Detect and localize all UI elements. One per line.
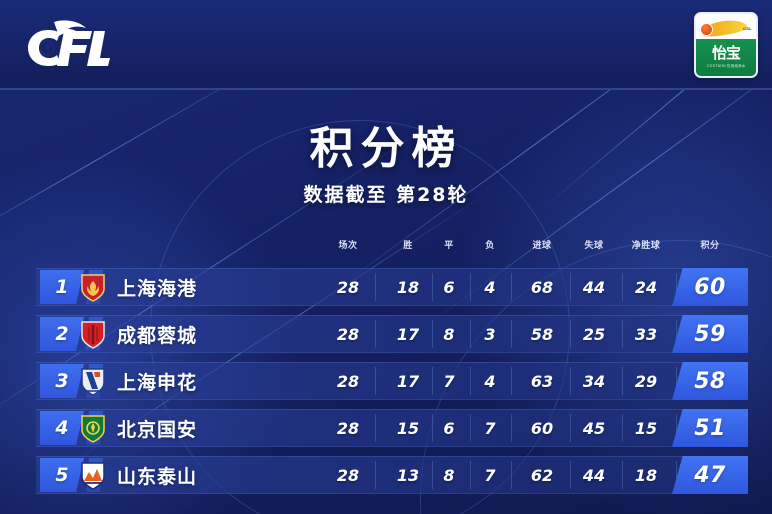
points-value: 58 [694, 369, 726, 394]
stat-win: 15 [397, 411, 419, 445]
cell-separator [511, 273, 512, 301]
stat-gd: 29 [635, 364, 657, 398]
stat-played: 28 [337, 364, 359, 398]
stat-gf: 62 [531, 458, 553, 492]
stat-draw: 8 [443, 458, 454, 492]
team-name[interactable]: 上海申花 [117, 364, 197, 398]
cell-separator [470, 461, 471, 489]
stat-ga: 34 [583, 364, 605, 398]
cell-separator [511, 461, 512, 489]
team-name[interactable]: 上海海港 [117, 270, 197, 304]
sponsor-csl-mark: CSL [743, 26, 752, 31]
page-subtitle: 数据截至 第28轮 [0, 180, 772, 207]
cell-separator [470, 367, 471, 395]
cell-separator [622, 461, 623, 489]
stat-loss: 7 [484, 458, 495, 492]
table-row[interactable]: 5 山东泰山28138762441847 [0, 452, 772, 499]
cell-separator [622, 367, 623, 395]
cell-separator [470, 414, 471, 442]
sponsor-name-cn: 怡宝 [712, 46, 740, 61]
shandong-taishan-crest [80, 461, 106, 490]
column-header-win: 胜 [403, 238, 413, 251]
stat-win: 17 [397, 364, 419, 398]
column-header-gd: 净胜球 [632, 238, 661, 251]
beijing-guoan-crest [80, 414, 106, 443]
rank-number: 5 [55, 464, 68, 486]
cell-separator [511, 320, 512, 348]
table-column-headers: 场次胜平负进球失球净胜球积分 [0, 236, 772, 264]
sponsor-badge-bottom: 怡宝 C'ESTBON 饮用纯净水 [696, 39, 756, 76]
stat-loss: 3 [484, 317, 495, 351]
rank-number: 2 [55, 323, 68, 345]
cell-separator [375, 320, 376, 348]
points-badge: 60 [672, 268, 748, 306]
column-header-ga: 失球 [584, 238, 603, 251]
stat-played: 28 [337, 270, 359, 304]
stat-win: 17 [397, 317, 419, 351]
cell-separator [470, 320, 471, 348]
table-row[interactable]: 1 上海海港28186468442460 [0, 264, 772, 311]
cell-separator [570, 273, 571, 301]
page-title: 积分榜 [0, 112, 772, 176]
stat-gf: 63 [531, 364, 553, 398]
cell-separator [432, 367, 433, 395]
cell-separator [375, 461, 376, 489]
shanghai-shenhua-crest [80, 367, 106, 396]
stat-draw: 6 [443, 270, 454, 304]
team-name[interactable]: 北京国安 [117, 411, 197, 445]
table-row[interactable]: 3 上海申花28177463342958 [0, 358, 772, 405]
rank-number: 4 [55, 417, 68, 439]
cell-separator [470, 273, 471, 301]
cell-separator [375, 273, 376, 301]
stat-gd: 24 [635, 270, 657, 304]
stat-gf: 60 [531, 411, 553, 445]
points-value: 60 [694, 275, 726, 300]
cell-separator [511, 414, 512, 442]
rank-number: 1 [55, 276, 68, 298]
column-header-gf: 进球 [532, 238, 551, 251]
stat-draw: 6 [443, 411, 454, 445]
points-badge: 59 [672, 315, 748, 353]
cell-separator [570, 461, 571, 489]
cell-separator [570, 414, 571, 442]
sponsor-name-sub: C'ESTBON 饮用纯净水 [707, 64, 746, 69]
stat-gf: 58 [531, 317, 553, 351]
stat-gd: 33 [635, 317, 657, 351]
cfl-logo [24, 16, 110, 72]
stat-gd: 15 [635, 411, 657, 445]
stat-ga: 25 [583, 317, 605, 351]
sponsor-badge-top: CSL [696, 14, 756, 39]
stat-draw: 7 [443, 364, 454, 398]
stat-gd: 18 [635, 458, 657, 492]
stat-played: 28 [337, 458, 359, 492]
team-name[interactable]: 成都蓉城 [117, 317, 197, 351]
sponsor-ball-icon [700, 23, 713, 36]
stat-ga: 44 [583, 270, 605, 304]
cell-separator [622, 273, 623, 301]
chengdu-rongcheng-crest [80, 320, 106, 349]
cell-separator [432, 461, 433, 489]
stat-loss: 4 [484, 270, 495, 304]
cell-separator [622, 414, 623, 442]
cell-separator [375, 414, 376, 442]
team-name[interactable]: 山东泰山 [117, 458, 197, 492]
cell-separator [511, 367, 512, 395]
stat-win: 18 [397, 270, 419, 304]
rank-number: 3 [55, 370, 68, 392]
cell-separator [375, 367, 376, 395]
stat-played: 28 [337, 317, 359, 351]
stat-played: 28 [337, 411, 359, 445]
cell-separator [432, 273, 433, 301]
column-header-draw: 平 [444, 238, 454, 251]
sponsor-badge: CSL 怡宝 C'ESTBON 饮用纯净水 [694, 12, 758, 78]
points-badge: 58 [672, 362, 748, 400]
stat-loss: 7 [484, 411, 495, 445]
cell-separator [570, 320, 571, 348]
column-header-points: 积分 [700, 238, 719, 251]
cell-separator [432, 320, 433, 348]
column-header-played: 场次 [338, 238, 357, 251]
stat-win: 13 [397, 458, 419, 492]
table-rows: 1 上海海港281864684424602 成都蓉城28178358253359… [0, 264, 772, 499]
points-value: 51 [694, 416, 726, 441]
shanghai-port-crest [80, 273, 106, 302]
stat-ga: 44 [583, 458, 605, 492]
stat-gf: 68 [531, 270, 553, 304]
column-header-loss: 负 [485, 238, 495, 251]
stat-ga: 45 [583, 411, 605, 445]
points-value: 59 [694, 322, 726, 347]
points-badge: 47 [672, 456, 748, 494]
table-row[interactable]: 2 成都蓉城28178358253359 [0, 311, 772, 358]
standings-table: 场次胜平负进球失球净胜球积分 1 上海海港281864684424602 成都蓉… [0, 236, 772, 499]
stat-loss: 4 [484, 364, 495, 398]
cell-separator [432, 414, 433, 442]
table-row[interactable]: 4 北京国安28156760451551 [0, 405, 772, 452]
stat-draw: 8 [443, 317, 454, 351]
cell-separator [570, 367, 571, 395]
header-band [0, 0, 772, 90]
points-value: 47 [694, 463, 726, 488]
cell-separator [622, 320, 623, 348]
points-badge: 51 [672, 409, 748, 447]
